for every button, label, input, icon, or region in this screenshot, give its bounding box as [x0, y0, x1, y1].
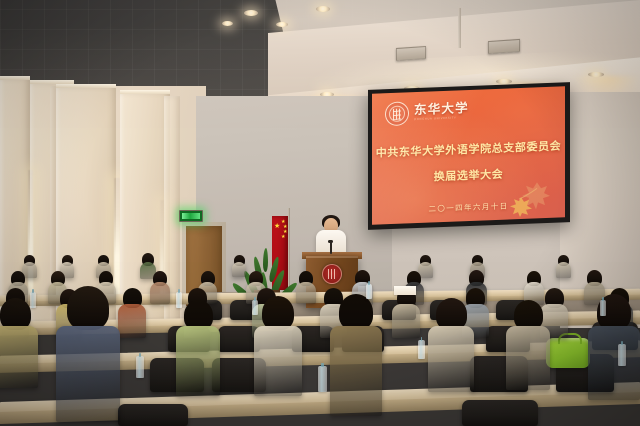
place-card	[394, 286, 416, 295]
water-bottle	[366, 284, 372, 299]
water-bottle	[318, 366, 327, 392]
water-bottle	[30, 292, 36, 308]
water-bottle	[136, 356, 144, 378]
water-bottle	[418, 340, 425, 359]
water-bottle	[600, 300, 606, 316]
photograph-conference-hall: 东华大学 DONGHUA UNIVERSITY 中共东华大学外语学院总支部委员会…	[0, 0, 640, 426]
water-bottle	[618, 344, 626, 366]
water-bottles	[0, 0, 640, 426]
water-bottle	[252, 300, 258, 315]
water-bottle	[176, 292, 182, 308]
